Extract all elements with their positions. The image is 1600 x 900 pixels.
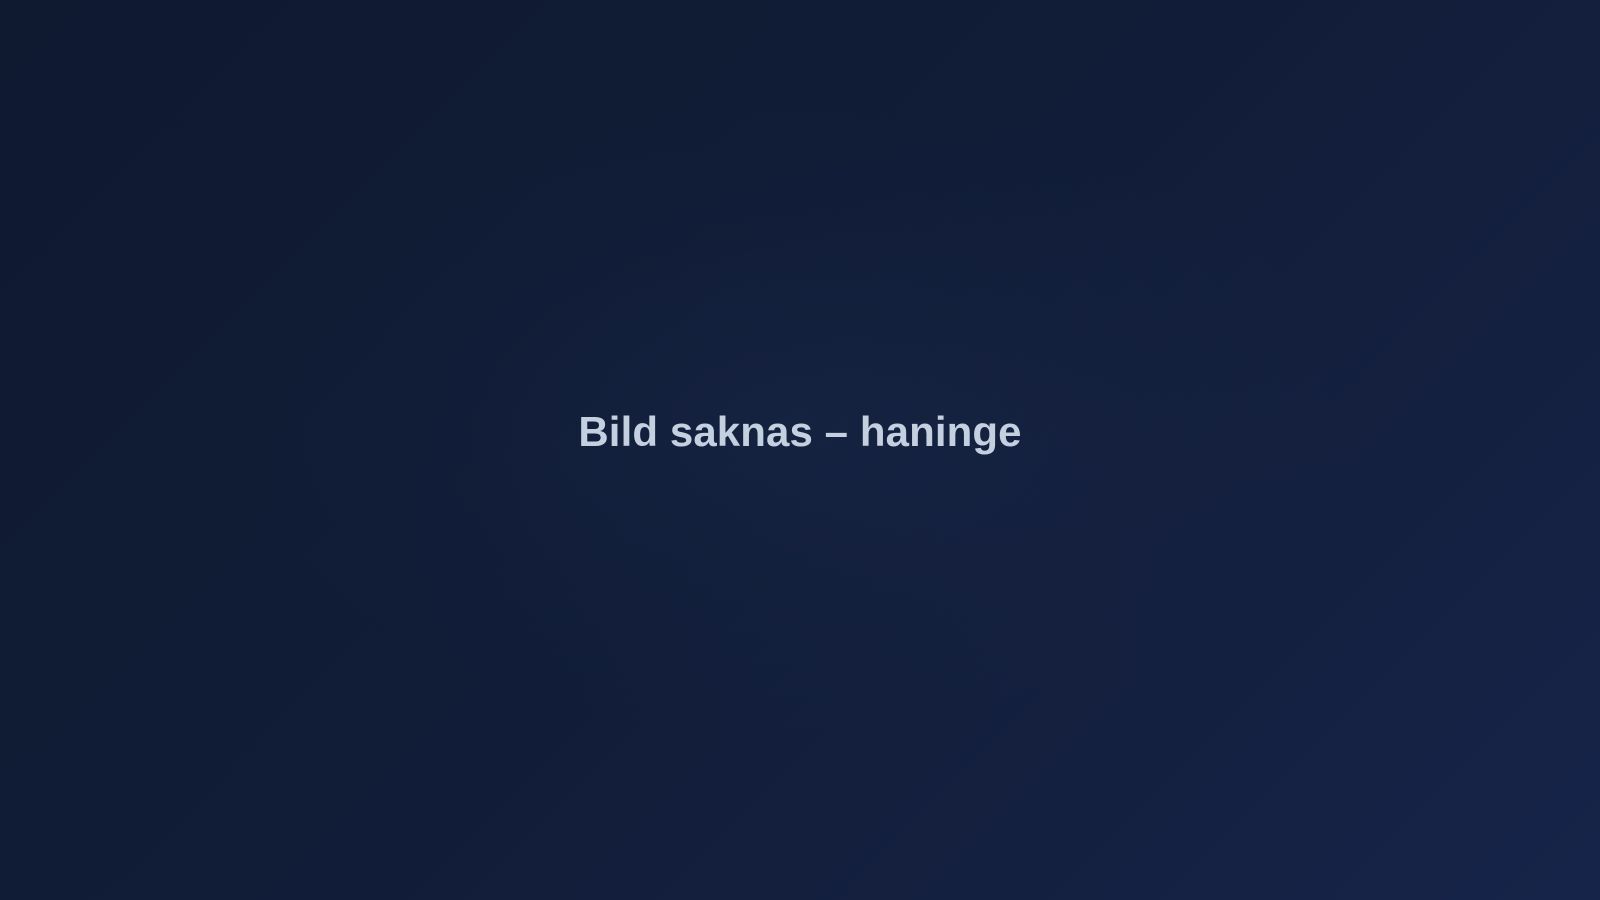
placeholder-message-text: Bild saknas – haninge [40,408,1560,455]
placeholder-message-block: Bild saknas – haninge [0,408,1600,455]
image-missing-placeholder-screen: Bild saknas – haninge [0,0,1600,900]
